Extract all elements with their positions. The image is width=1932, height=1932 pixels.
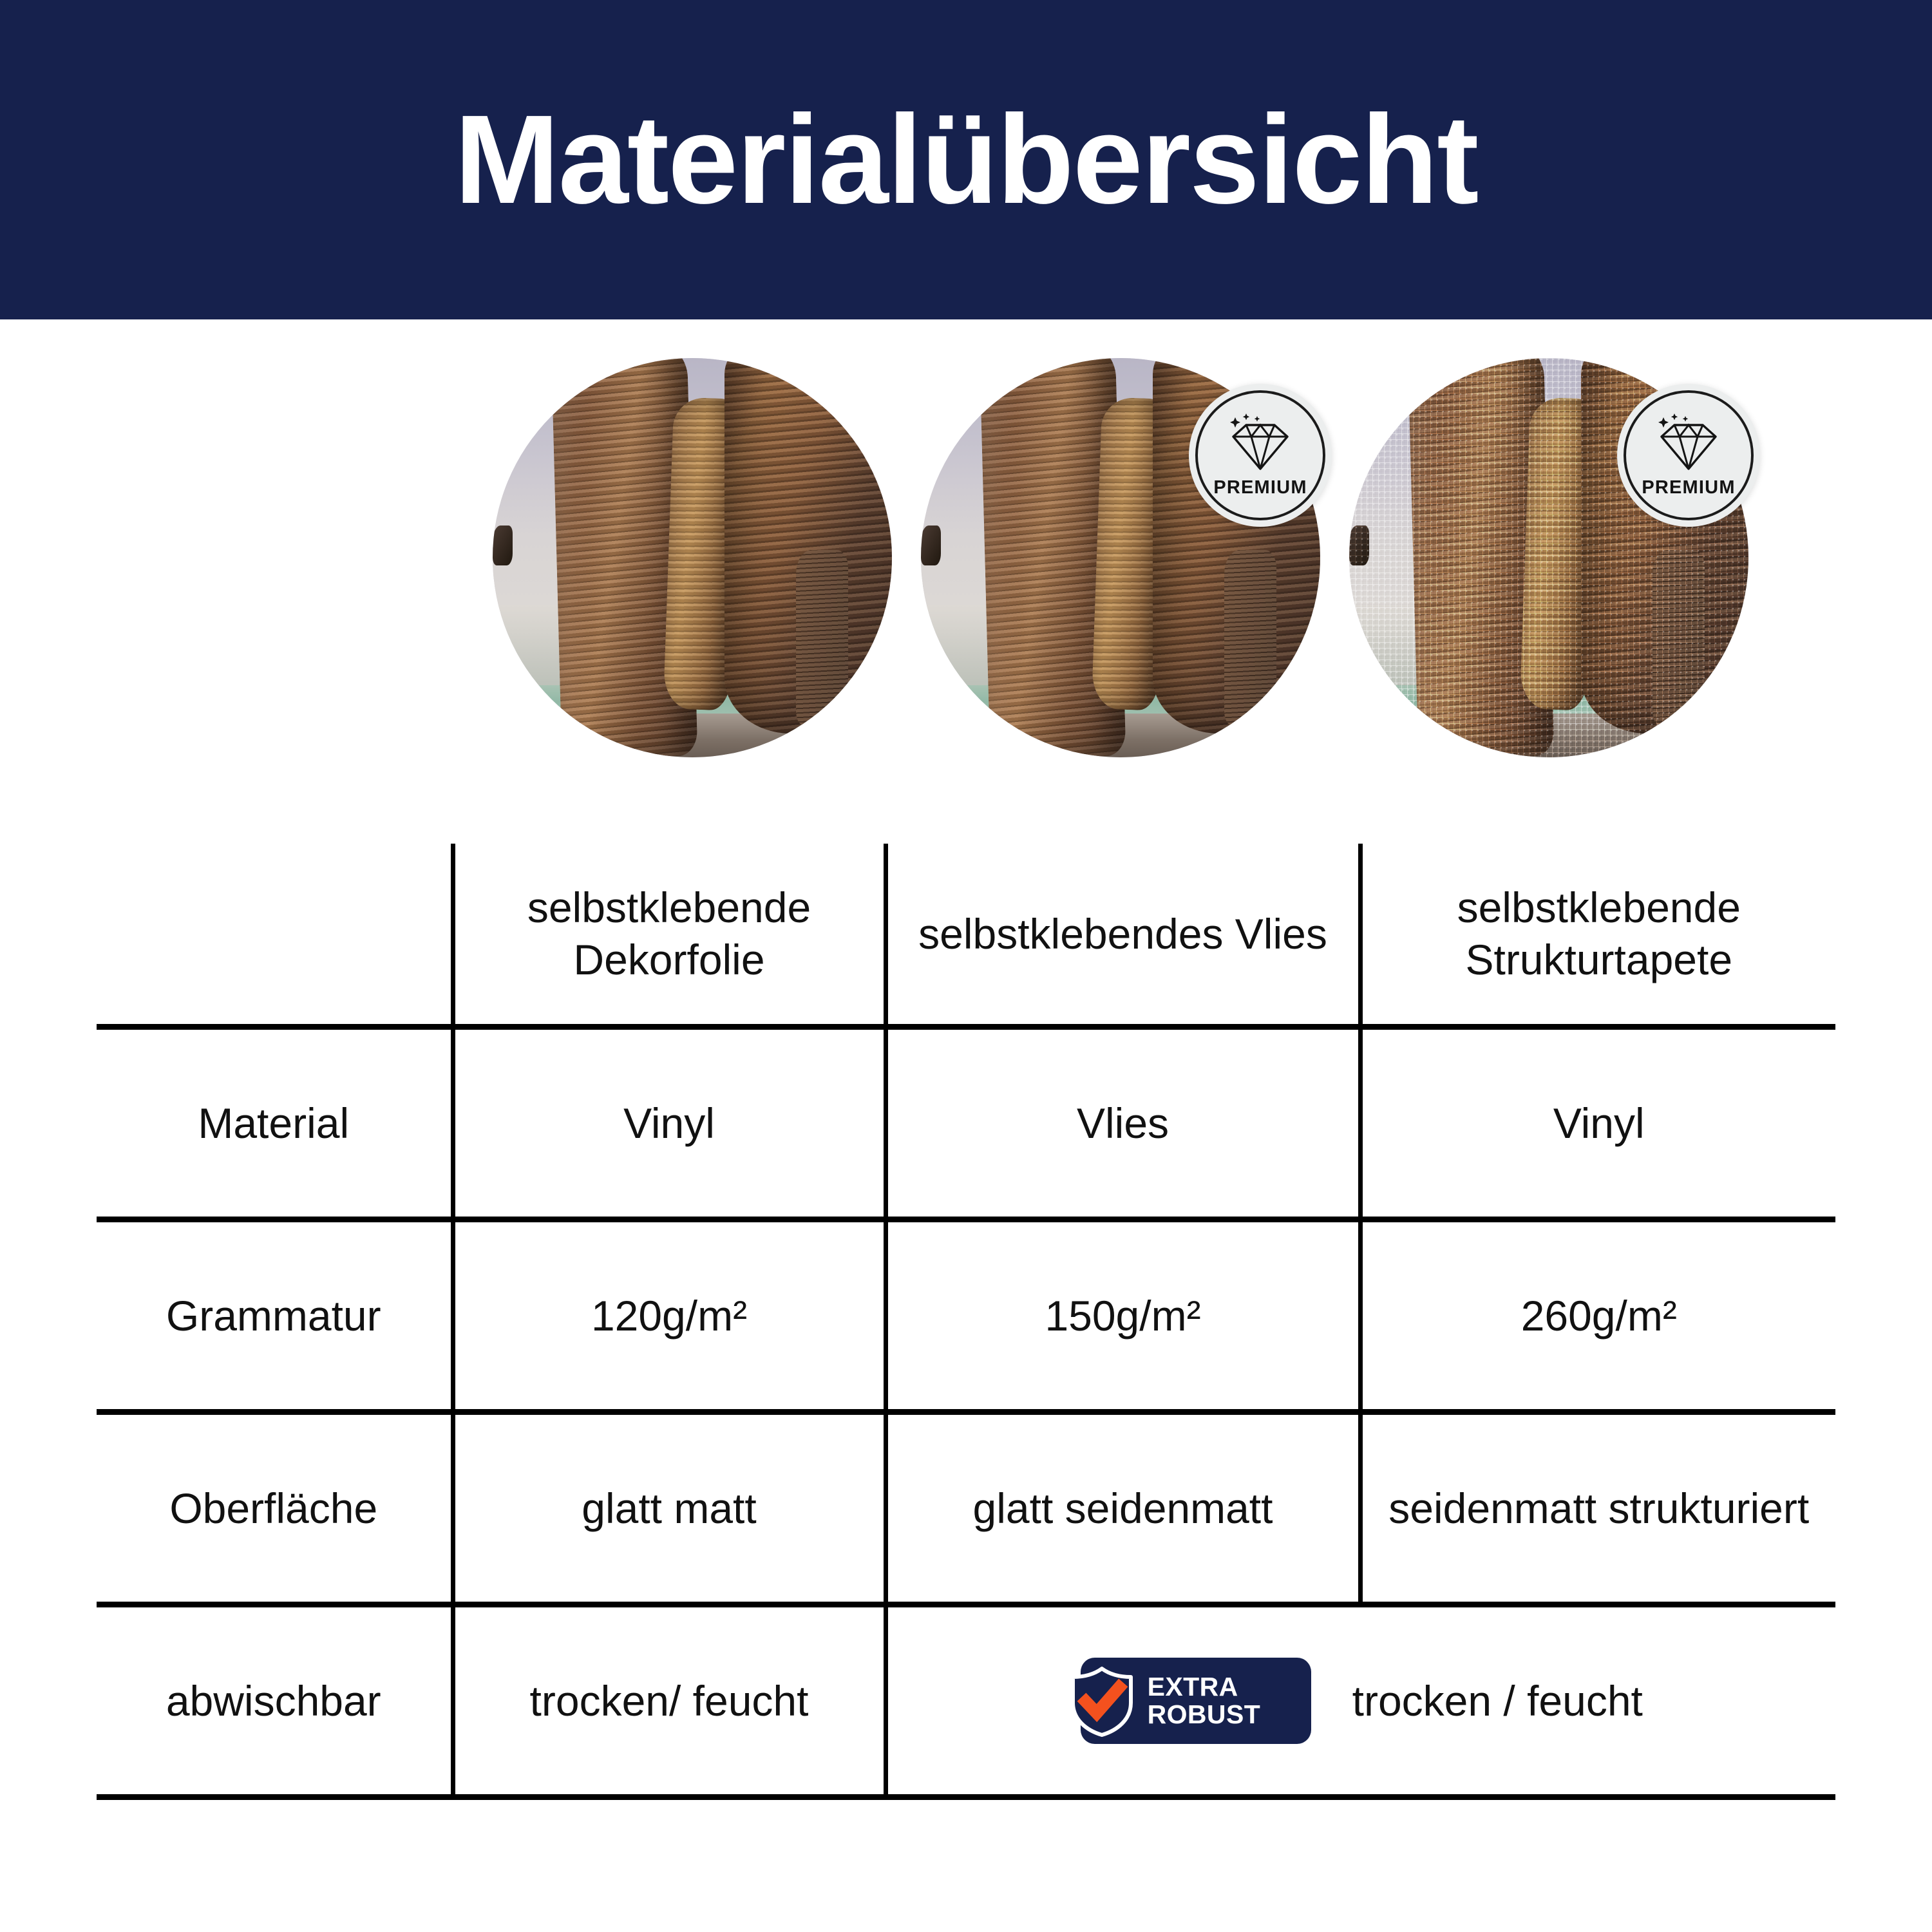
product-preview-vlies[interactable]: PREMIUM: [921, 358, 1320, 757]
cell-abwischbar-value: trocken / feucht: [1352, 1675, 1643, 1727]
row-label-oberflaeche: Oberfläche: [97, 1412, 453, 1605]
table-row: Oberfläche glatt matt glatt seidenmatt s…: [97, 1412, 1835, 1605]
diamond-icon: [1227, 412, 1294, 475]
cell-grammatur-dekorfolie: 120g/m²: [453, 1220, 885, 1412]
row-label-grammatur: Grammatur: [97, 1220, 453, 1412]
extra-robust-line2: ROBUST: [1148, 1700, 1261, 1729]
extra-robust-text: EXTRA ROBUST: [1148, 1673, 1261, 1728]
table-header-blank: [97, 844, 453, 1027]
product-preview-row: PREMIUM: [0, 352, 1932, 764]
table-row: Material Vinyl Vlies Vinyl: [97, 1027, 1835, 1220]
diamond-icon: [1655, 412, 1722, 475]
premium-badge-label: PREMIUM: [1642, 477, 1735, 498]
rock-arch-photo: [493, 358, 892, 757]
extra-robust-line1: EXTRA: [1148, 1672, 1238, 1701]
table-header-vlies: selbstklebendes Vlies: [885, 844, 1360, 1027]
photo-rock-far-right: [1224, 550, 1276, 726]
cell-material-vlies: Vlies: [885, 1027, 1360, 1220]
row-label-abwischbar: abwischbar: [97, 1605, 453, 1797]
cell-grammatur-vlies: 150g/m²: [885, 1220, 1360, 1412]
table-row: Grammatur 120g/m² 150g/m² 260g/m²: [97, 1220, 1835, 1412]
photo-rock-far-right: [796, 550, 848, 726]
extra-robust-badge: EXTRA ROBUST: [1081, 1658, 1311, 1744]
cell-material-strukturtapete: Vinyl: [1360, 1027, 1835, 1220]
page-title: Materialübersicht: [455, 97, 1478, 223]
cell-abwischbar-dekorfolie: trocken/ feucht: [453, 1605, 885, 1797]
table-header-row: selbstklebende Dekorfolie selbstklebende…: [97, 844, 1835, 1027]
product-preview-dekorfolie[interactable]: [493, 358, 892, 757]
material-comparison-table: selbstklebende Dekorfolie selbstklebende…: [97, 844, 1835, 1800]
header-banner: Materialübersicht: [0, 0, 1932, 319]
photo-rocklet: [921, 526, 941, 565]
shield-check-icon: [1066, 1665, 1137, 1738]
product-image-dekorfolie: [493, 358, 892, 757]
photo-rocklet: [493, 526, 513, 565]
table-header-dekorfolie: selbstklebende Dekorfolie: [453, 844, 885, 1027]
table-row: abwischbar trocken/ feucht: [97, 1605, 1835, 1797]
cell-material-dekorfolie: Vinyl: [453, 1027, 885, 1220]
cell-oberflaeche-vlies: glatt seidenmatt: [885, 1412, 1360, 1605]
premium-badge: PREMIUM: [1617, 384, 1760, 527]
cell-grammatur-strukturtapete: 260g/m²: [1360, 1220, 1835, 1412]
cell-abwischbar-merged: EXTRA ROBUST trocken / feucht: [885, 1605, 1835, 1797]
cell-oberflaeche-dekorfolie: glatt matt: [453, 1412, 885, 1605]
row-label-material: Material: [97, 1027, 453, 1220]
table-header-strukturtapete: selbstklebende Strukturtapete: [1360, 844, 1835, 1027]
premium-badge-label: PREMIUM: [1213, 477, 1307, 498]
product-preview-strukturtapete[interactable]: PREMIUM: [1349, 358, 1748, 757]
premium-badge: PREMIUM: [1189, 384, 1332, 527]
cell-oberflaeche-strukturtapete: seidenmatt strukturiert: [1360, 1412, 1835, 1605]
